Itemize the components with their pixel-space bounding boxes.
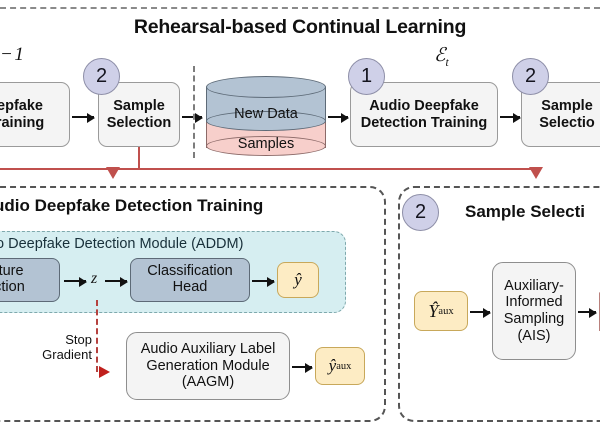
arrow-sample-selection-to-data [182,116,202,118]
diagram-canvas: Rehearsal-based Continual Learning − 1 ℰ… [0,0,600,425]
cylinder-label-samples: Samples [206,136,326,152]
aagm-box[interactable]: Audio Auxiliary Label Generation Module … [126,332,290,400]
y-hat-output-box[interactable]: ŷ [277,262,319,298]
ais-line2: Informed [504,294,564,311]
arrow-prev-to-sample-selection [72,116,94,118]
new-data-samples-cylinder[interactable]: New Data Samples [206,76,326,160]
red-arrow-into-left-panel [106,167,120,179]
sample-selection-1-line1: Sample [107,98,171,114]
page-title: Rehearsal-based Continual Learning [0,16,600,39]
aagm-line3: (AAGM) [141,374,276,391]
addt-box-line1: Audio Deepfake [361,98,488,114]
arrow-latent-to-classification-head [105,280,127,282]
left-panel-heading: udio Deepfake Detection Training [0,196,263,216]
red-connector-right [138,168,536,170]
right-panel-step-circle: 2 [402,194,439,231]
epsilon-t-label: ℰt [434,44,449,69]
y-hat-aux-superscript: aux [336,361,351,372]
arrow-training-to-sample-selection-2 [500,116,520,118]
cylinder-top-cap [206,76,326,98]
Y-hat-aux-symbol: Ŷ [428,301,438,322]
prev-deepfake-training-box[interactable]: eepfake Training [0,82,70,147]
stop-gradient-label: Stop Gradient [28,333,92,362]
feature-extraction-line2: raction [0,280,25,296]
ais-line4: (AIS) [504,328,564,345]
step-circle-1: 1 [348,58,385,95]
feature-extraction-box[interactable]: eature raction [0,258,60,302]
sample-selection-2-line2: Selectio [539,115,595,131]
arrow-aagm-to-yhat-aux [292,366,312,368]
Y-hat-aux-input-box[interactable]: Ŷaux [414,291,468,331]
prev-box-line1: eepfake [0,98,44,114]
epsilon-t-minus-1-label: − 1 [0,44,24,66]
top-divider [0,7,600,9]
Y-hat-aux-superscript: aux [438,306,453,317]
arrow-data-to-training [328,116,348,118]
arrow-Yaux-to-ais [470,311,490,313]
step-circle-2-first: 2 [83,58,120,95]
y-hat-aux-symbol: ŷ [329,356,337,376]
classification-head-line2: Head [147,280,232,296]
arrow-features-to-latent [64,280,86,282]
ais-line1: Auxiliary- [504,278,564,295]
right-panel-heading: Sample Selecti [465,202,585,222]
sample-selection-1-line2: Selection [107,115,171,131]
stop-gradient-arrowhead [99,366,110,378]
latent-variable-z: z [91,270,97,288]
red-connector-down-1 [138,147,140,169]
sample-selection-2-line1: Sample [539,98,595,114]
feature-extraction-line1: eature [0,264,25,280]
stop-gradient-line1: Stop [28,333,92,348]
red-arrow-into-right-panel [529,167,543,179]
arrow-ais-to-memory [578,311,596,313]
y-hat-symbol: ŷ [294,270,302,290]
aagm-line1: Audio Auxiliary Label [141,341,276,358]
y-hat-aux-output-box[interactable]: ŷaux [315,347,365,385]
prev-box-line2: Training [0,115,44,131]
addt-box-line2: Detection Training [361,115,488,131]
aagm-line2: Generation Module [141,358,276,375]
stop-gradient-line [96,300,98,372]
step-circle-2-second: 2 [512,58,549,95]
ais-box[interactable]: Auxiliary- Informed Sampling (AIS) [492,262,576,360]
addm-region-label: o Deepfake Detection Module (ADDM) [0,236,243,252]
stop-gradient-line2: Gradient [28,348,92,363]
classification-head-box[interactable]: Classification Head [130,258,250,302]
classification-head-line1: Classification [147,264,232,280]
task-separator-1 [193,66,195,158]
ais-line3: Sampling [504,311,564,328]
arrow-head-to-yhat [252,280,274,282]
cylinder-label-new-data: New Data [206,106,326,122]
